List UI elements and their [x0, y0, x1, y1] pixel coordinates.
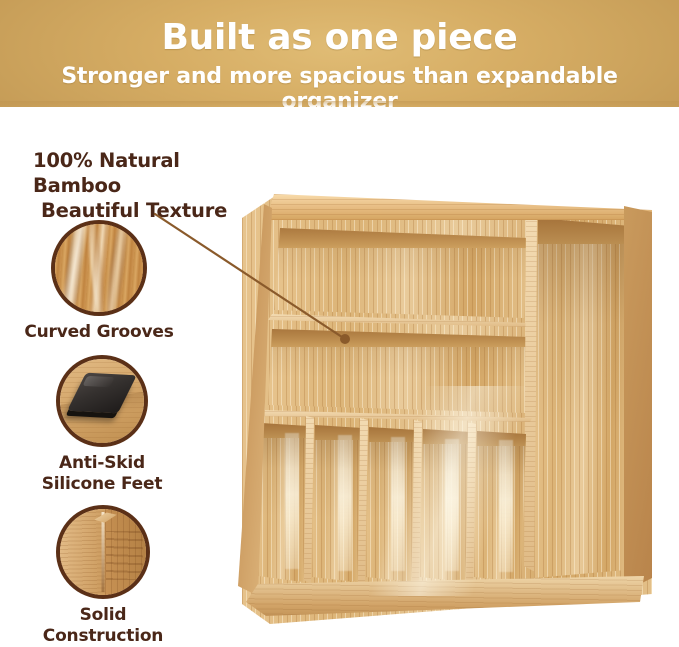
bamboo-drawer-organizer [232, 186, 652, 626]
cutlery-slot-1 [258, 420, 308, 582]
feature-caption-anti-skid: Anti-Skid Silicone Feet [12, 453, 192, 495]
banner-background: Built as one piece Stronger and more spa… [0, 0, 679, 107]
compartment-shadow [268, 325, 530, 413]
feature-curved-grooves: Curved Grooves [55, 224, 151, 343]
cutlery-slot-2 [312, 422, 362, 584]
slot-shadow [420, 426, 470, 584]
compartment-shadow [534, 214, 630, 582]
banner-title: Built as one piece [0, 17, 679, 58]
groove-highlight-2 [87, 224, 107, 312]
header-banner: Built as one piece Stronger and more spa… [0, 0, 679, 107]
cutlery-slot-3 [366, 424, 416, 584]
caption-line-2: Construction [13, 626, 193, 647]
joint-left-face [60, 509, 105, 595]
joint-corner-edge [102, 512, 105, 591]
cutlery-slot-4 [420, 426, 470, 584]
groove-highlight-1 [62, 224, 88, 312]
banner-bottom-fade [0, 101, 679, 107]
slot-shadow [312, 422, 362, 584]
feature-caption-curved-grooves: Curved Grooves [0, 322, 199, 343]
groove-highlight-3 [103, 224, 131, 312]
slot-shadow [258, 420, 308, 582]
slot-shadow [366, 424, 416, 584]
tall-right-compartment [534, 214, 630, 582]
organizer-top-rim [244, 194, 652, 220]
caption-line-1: Anti-Skid [12, 453, 192, 474]
caption-line-1: Solid [13, 605, 193, 626]
feature-solid-construction: Solid Construction [60, 509, 148, 647]
corner-joint-texture [60, 509, 146, 595]
joint-layer-lines [106, 531, 144, 579]
organizer-right-rim [624, 206, 654, 598]
corner-joint-circle-icon [60, 509, 146, 595]
caption-line-2: Silicone Feet [12, 474, 192, 495]
slot-shadow [474, 428, 526, 584]
feature-anti-skid-feet: Anti-Skid Silicone Feet [60, 359, 148, 495]
feature-caption-solid-construction: Solid Construction [13, 605, 193, 647]
wood-grain-texture [55, 224, 143, 312]
middle-wide-compartment [268, 325, 530, 413]
headline-line-1: 100% Natural Bamboo [33, 149, 180, 197]
cutlery-slot-5 [474, 428, 526, 584]
silicone-foot-circle-icon [60, 359, 144, 443]
wood-grain-circle-icon [55, 224, 143, 312]
